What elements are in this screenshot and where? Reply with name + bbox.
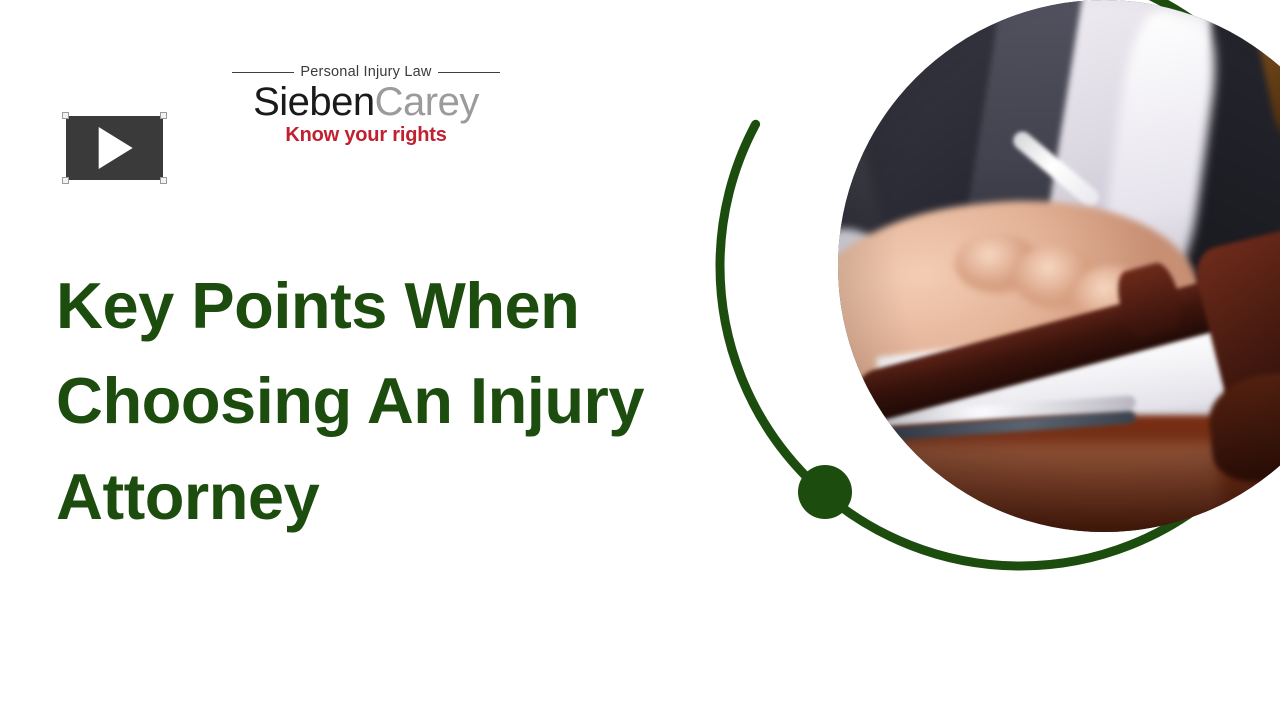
left-content-pane: Personal Injury Law SiebenCarey Know you… [0,0,720,720]
attorney-photo [838,0,1280,532]
logo-rule-left [232,72,294,73]
attorney-photo-inner [838,0,1280,532]
right-graphic-group [700,0,1280,720]
selection-handle-bottom-left[interactable] [62,177,69,184]
logo-tagline: Know your rights [232,125,500,145]
brand-logo: Personal Injury Law SiebenCarey Know you… [232,63,500,145]
logo-wordmark-carey: Carey [375,80,479,124]
logo-kicker-text: Personal Injury Law [300,65,431,80]
slide-canvas: Personal Injury Law SiebenCarey Know you… [0,0,1280,720]
selection-handle-top-left[interactable] [62,112,69,119]
play-icon [98,127,132,169]
selection-handle-bottom-right[interactable] [160,177,167,184]
logo-rule-right [438,72,500,73]
logo-wordmark-sieben: Sieben [253,80,375,124]
selection-handle-top-right[interactable] [160,112,167,119]
logo-wordmark: SiebenCarey [232,82,500,122]
page-title: Key Points When Choosing An Injury Attor… [56,258,696,545]
photo-vignette [838,0,1280,532]
video-placeholder[interactable] [66,116,163,180]
logo-kicker-row: Personal Injury Law [232,63,500,81]
